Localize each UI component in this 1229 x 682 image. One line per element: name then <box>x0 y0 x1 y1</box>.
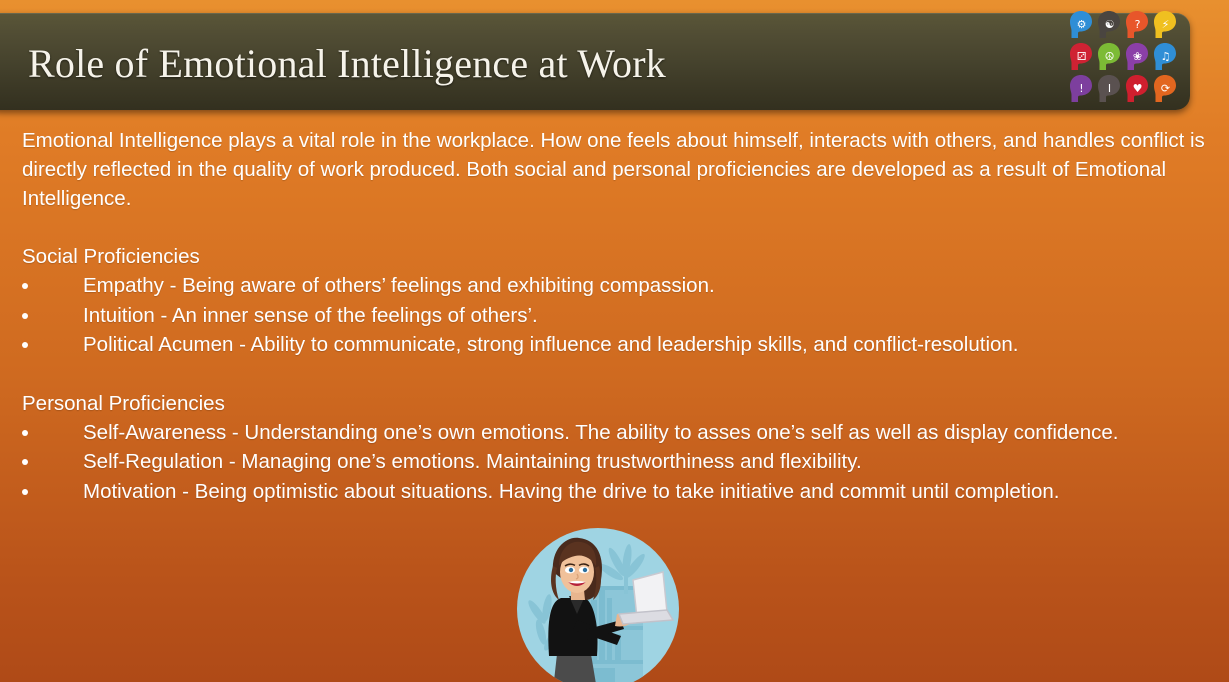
bullet-dot-icon <box>22 459 28 465</box>
head-peace-icon: ☮ <box>1096 41 1124 73</box>
title-bar: Role of Emotional Intelligence at Work <box>0 13 1190 110</box>
personal-proficiencies-heading: Personal Proficiencies <box>22 360 1212 418</box>
head-heart-icon: ♥ <box>1124 73 1152 105</box>
bullet-dot-icon <box>22 430 28 436</box>
svg-text:☮: ☮ <box>1105 50 1115 63</box>
list-item-label: Empathy - Being aware of others’ feeling… <box>83 274 715 297</box>
social-proficiencies-heading: Social Proficiencies <box>22 213 1212 271</box>
list-item: Empathy - Being aware of others’ feeling… <box>22 271 1212 301</box>
head-lightning-icon: ⚡ <box>1152 9 1180 41</box>
list-item-label: Political Acumen - Ability to communicat… <box>83 333 1019 356</box>
list-item-label: Intuition - An inner sense of the feelin… <box>83 304 538 327</box>
svg-text:⚙: ⚙ <box>1077 18 1087 31</box>
list-item: Self-Regulation - Managing one’s emotion… <box>22 447 1212 477</box>
list-item: Political Acumen - Ability to communicat… <box>22 330 1212 360</box>
head-yinyang-icon: ☯ <box>1096 9 1124 41</box>
list-item: Motivation - Being optimistic about situ… <box>22 477 1212 507</box>
list-item-label: Motivation - Being optimistic about situ… <box>83 480 1060 503</box>
svg-text:♫: ♫ <box>1161 50 1171 63</box>
bullet-dot-icon <box>22 283 28 289</box>
svg-text:♥: ♥ <box>1133 82 1143 95</box>
svg-text:⚡: ⚡ <box>1162 18 1170 31</box>
svg-text:?: ? <box>1135 18 1141 31</box>
head-question-icon: ? <box>1124 9 1152 41</box>
head-gears-icon: ⚙ <box>1068 9 1096 41</box>
businesswoman-with-laptop-illustration <box>517 528 679 682</box>
intro-paragraph: Emotional Intelligence plays a vital rol… <box>22 126 1208 213</box>
head-music-icon: ♫ <box>1152 41 1180 73</box>
list-item-label: Self-Awareness - Understanding one’s own… <box>83 421 1118 444</box>
social-proficiencies-list: Empathy - Being aware of others’ feeling… <box>22 271 1212 360</box>
head-info-icon: I <box>1096 73 1124 105</box>
list-item: Self-Awareness - Understanding one’s own… <box>22 418 1212 448</box>
head-dice-icon: ⚂ <box>1068 41 1096 73</box>
svg-text:⟳: ⟳ <box>1161 82 1170 95</box>
head-exclamation-icon: ! <box>1068 73 1096 105</box>
bullet-dot-icon <box>22 489 28 495</box>
svg-text:!: ! <box>1079 82 1083 95</box>
slide-body: Emotional Intelligence plays a vital rol… <box>22 126 1212 506</box>
svg-text:❀: ❀ <box>1133 50 1142 63</box>
svg-text:☯: ☯ <box>1105 18 1115 31</box>
slide: Role of Emotional Intelligence at Work ⚙… <box>0 0 1229 682</box>
bullet-dot-icon <box>22 342 28 348</box>
head-icon-grid: ⚙☯?⚡⚂☮❀♫!I♥⟳ <box>1068 9 1180 105</box>
svg-text:⚂: ⚂ <box>1077 50 1087 63</box>
list-item: Intuition - An inner sense of the feelin… <box>22 301 1212 331</box>
svg-text:I: I <box>1108 82 1111 95</box>
head-globe-icon: ❀ <box>1124 41 1152 73</box>
list-item-label: Self-Regulation - Managing one’s emotion… <box>83 450 862 473</box>
personal-proficiencies-list: Self-Awareness - Understanding one’s own… <box>22 418 1212 507</box>
head-refresh-icon: ⟳ <box>1152 73 1180 105</box>
page-title: Role of Emotional Intelligence at Work <box>28 40 666 87</box>
bullet-dot-icon <box>22 313 28 319</box>
